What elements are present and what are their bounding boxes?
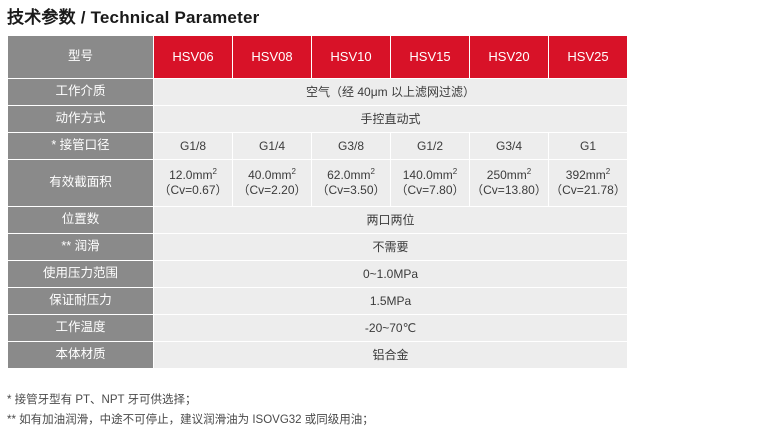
table-row-body-material: 本体材质 铝合金 <box>8 342 627 368</box>
table-row-proof-pressure: 保证耐压力 1.5MPa <box>8 288 627 314</box>
model-header-cell: HSV15 <box>391 36 469 78</box>
area-value: 250mm <box>487 168 527 182</box>
row-value-merged: 不需要 <box>154 234 627 260</box>
footnotes: * 接管牙型有 PT、NPT 牙可供选择； ** 如有加油润滑，中途不可停止，建… <box>7 390 374 430</box>
row-value-merged: 1.5MPa <box>154 288 627 314</box>
row-value-merged: -20~70℃ <box>154 315 627 341</box>
model-header-cell: HSV10 <box>312 36 390 78</box>
row-label: 位置数 <box>8 207 153 233</box>
model-header-cell: HSV25 <box>549 36 627 78</box>
area-cv: （Cv=0.67） <box>154 183 232 198</box>
row-value-cell: G3/8 <box>312 133 390 159</box>
table-row-medium: 工作介质 空气（经 40μm 以上滤网过滤） <box>8 79 627 105</box>
area-cv: （Cv=13.80） <box>470 183 548 198</box>
area-cell: 392mm2 （Cv=21.78） <box>549 160 627 206</box>
model-header-cell: HSV20 <box>470 36 548 78</box>
row-value-merged: 空气（经 40μm 以上滤网过滤） <box>154 79 627 105</box>
row-value-merged: 两口两位 <box>154 207 627 233</box>
area-cv: （Cv=3.50） <box>312 183 390 198</box>
table-body: 型号 HSV06 HSV08 HSV10 HSV15 HSV20 HSV25 工… <box>8 36 627 368</box>
row-value-cell: G3/4 <box>470 133 548 159</box>
table-row-position-count: 位置数 两口两位 <box>8 207 627 233</box>
area-cv: （Cv=7.80） <box>391 183 469 198</box>
table-row-effective-area: 有效截面积 12.0mm2 （Cv=0.67） 40.0mm2 （Cv=2.20… <box>8 160 627 206</box>
row-value-cell: G1/8 <box>154 133 232 159</box>
table-row-pressure-range: 使用压力范围 0~1.0MPa <box>8 261 627 287</box>
area-cell: 12.0mm2 （Cv=0.67） <box>154 160 232 206</box>
area-superscript: 2 <box>370 167 374 176</box>
row-label: ** 润滑 <box>8 234 153 260</box>
area-value: 140.0mm <box>403 168 453 182</box>
table-row-lubrication: ** 润滑 不需要 <box>8 234 627 260</box>
row-value-merged: 铝合金 <box>154 342 627 368</box>
row-value-merged: 0~1.0MPa <box>154 261 627 287</box>
footnote-single-asterisk: * 接管牙型有 PT、NPT 牙可供选择； <box>7 390 374 410</box>
technical-parameter-table: 型号 HSV06 HSV08 HSV10 HSV15 HSV20 HSV25 工… <box>7 35 628 369</box>
technical-parameter-page: 技术参数 / Technical Parameter 型号 HSV06 HSV0… <box>0 0 760 448</box>
table-row-actuation: 动作方式 手控直动式 <box>8 106 627 132</box>
area-superscript: 2 <box>527 167 531 176</box>
area-cv: （Cv=21.78） <box>549 183 627 198</box>
row-label: 本体材质 <box>8 342 153 368</box>
footnote-double-asterisk: ** 如有加油润滑，中途不可停止，建议润滑油为 ISOVG32 或同级用油； <box>7 410 374 430</box>
area-superscript: 2 <box>291 167 295 176</box>
area-cv: （Cv=2.20） <box>233 183 311 198</box>
area-superscript: 2 <box>212 167 216 176</box>
area-superscript: 2 <box>606 167 610 176</box>
row-label: 保证耐压力 <box>8 288 153 314</box>
model-header-cell: HSV06 <box>154 36 232 78</box>
row-value-merged: 手控直动式 <box>154 106 627 132</box>
table-row-port-size: * 接管口径 G1/8 G1/4 G3/8 G1/2 G3/4 G1 <box>8 133 627 159</box>
area-superscript: 2 <box>453 167 457 176</box>
table-row-model-header: 型号 HSV06 HSV08 HSV10 HSV15 HSV20 HSV25 <box>8 36 627 78</box>
row-value-cell: G1 <box>549 133 627 159</box>
row-label: 工作温度 <box>8 315 153 341</box>
table-row-temperature: 工作温度 -20~70℃ <box>8 315 627 341</box>
row-value-cell: G1/4 <box>233 133 311 159</box>
page-title: 技术参数 / Technical Parameter <box>7 3 259 28</box>
area-value: 392mm <box>566 168 606 182</box>
area-value: 12.0mm <box>169 168 212 182</box>
area-cell: 140.0mm2 （Cv=7.80） <box>391 160 469 206</box>
row-label: 动作方式 <box>8 106 153 132</box>
area-cell: 62.0mm2 （Cv=3.50） <box>312 160 390 206</box>
row-value-cell: G1/2 <box>391 133 469 159</box>
area-cell: 250mm2 （Cv=13.80） <box>470 160 548 206</box>
row-label-model: 型号 <box>8 36 153 78</box>
model-header-cell: HSV08 <box>233 36 311 78</box>
row-label: 有效截面积 <box>8 160 153 206</box>
area-value: 62.0mm <box>327 168 370 182</box>
area-value: 40.0mm <box>248 168 291 182</box>
row-label: 使用压力范围 <box>8 261 153 287</box>
row-label: * 接管口径 <box>8 133 153 159</box>
area-cell: 40.0mm2 （Cv=2.20） <box>233 160 311 206</box>
row-label: 工作介质 <box>8 79 153 105</box>
